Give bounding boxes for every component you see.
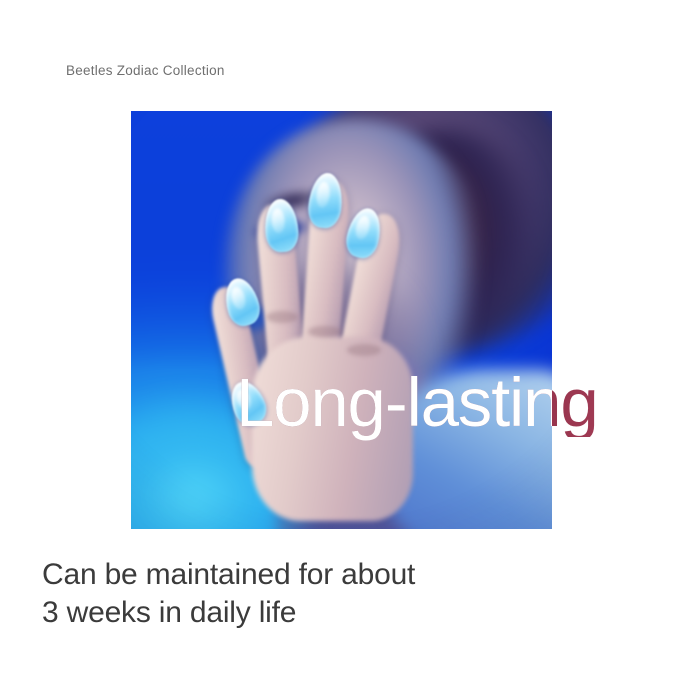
hand-palm xyxy=(252,337,413,521)
product-poster: Beetles Zodiac Collection xyxy=(0,0,679,679)
knuckle-ring xyxy=(347,344,381,356)
model-hand xyxy=(232,153,476,521)
product-photo-canvas xyxy=(131,111,552,529)
nail-highlight xyxy=(315,181,331,209)
caption-text: Can be maintained for about 3 weeks in d… xyxy=(42,556,415,633)
nail-highlight xyxy=(229,285,247,310)
knuckle-index xyxy=(266,311,298,323)
nail-highlight xyxy=(271,207,286,233)
brand-collection-label: Beetles Zodiac Collection xyxy=(66,63,225,78)
nail-highlight xyxy=(354,214,372,240)
product-photo xyxy=(131,111,552,529)
nail-highlight xyxy=(234,388,254,412)
